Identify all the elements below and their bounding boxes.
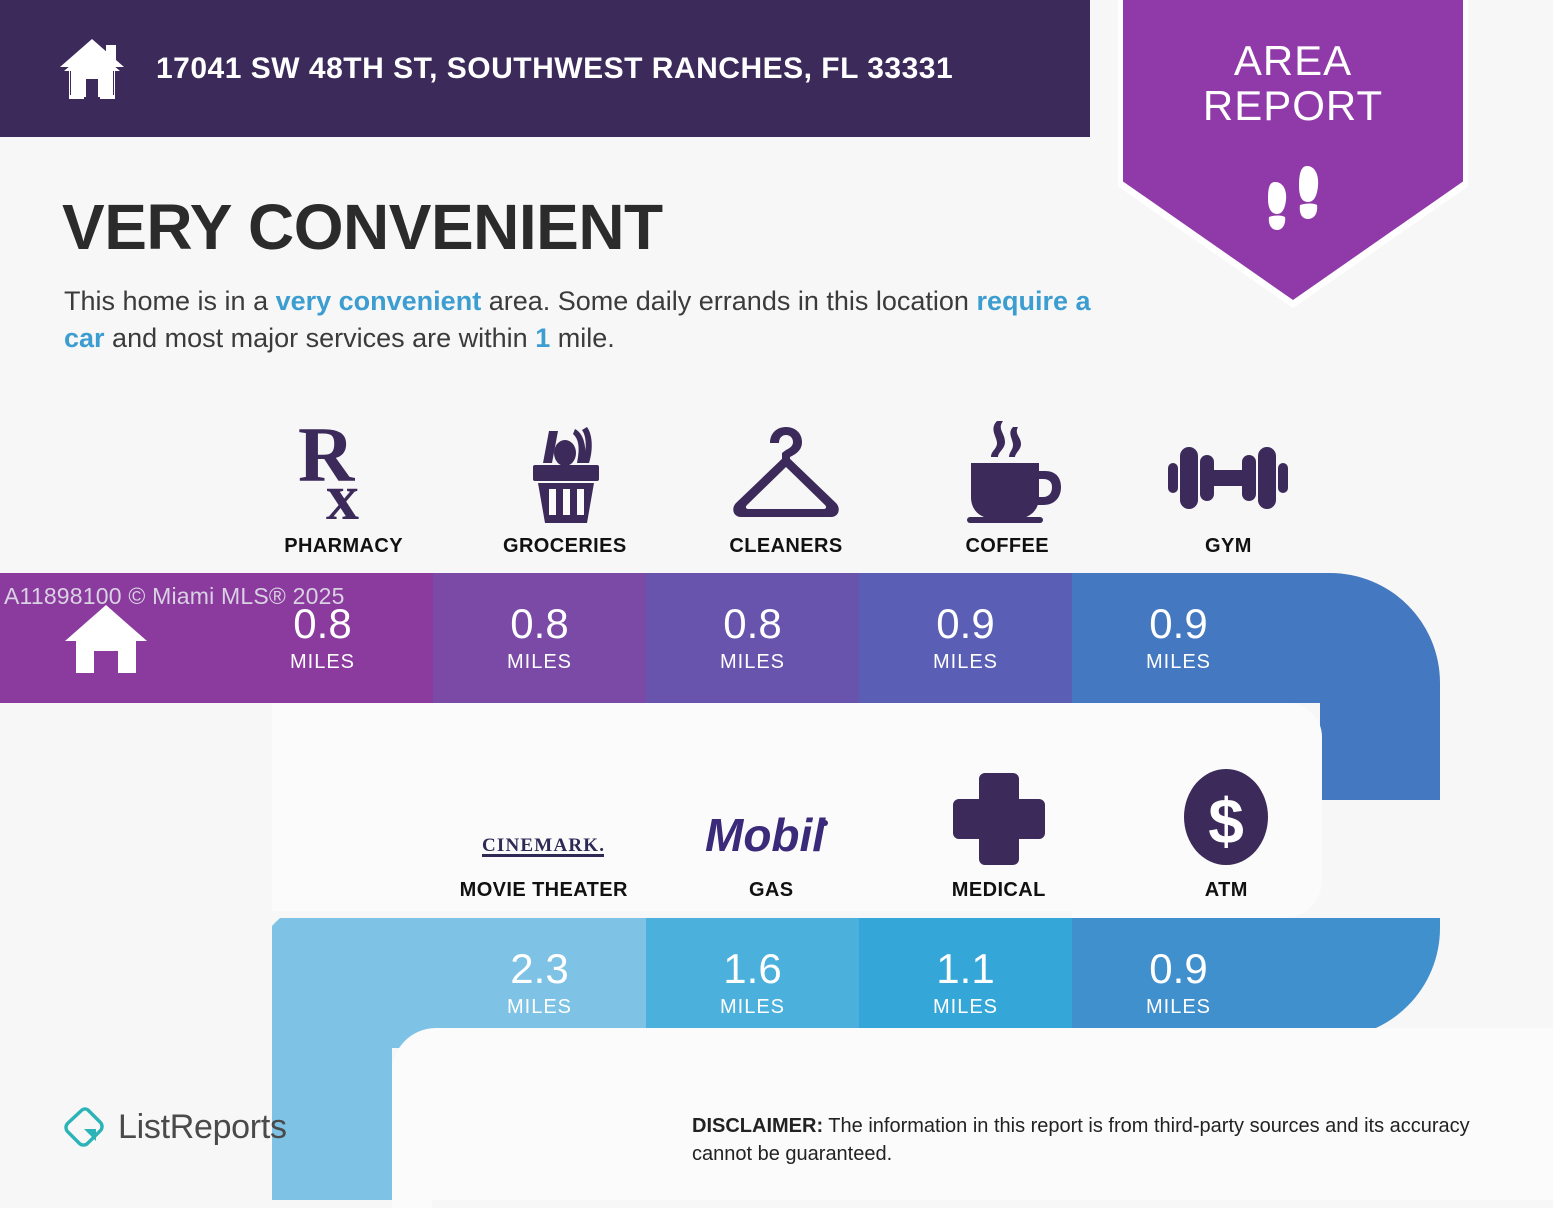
distance-value-movie-theater: 2.3 MILES <box>433 918 646 1048</box>
distance-value-medical: 1.1 MILES <box>859 918 1072 1048</box>
category-medical: MEDICAL <box>885 752 1113 902</box>
distance-unit: MILES <box>290 651 355 674</box>
mls-watermark: A11898100 © Miami MLS® 2025 <box>4 583 345 610</box>
dollar-icon: $ <box>1176 767 1276 867</box>
distance-number: 0.9 <box>1149 603 1207 645</box>
category-label: ATM <box>1205 879 1248 902</box>
listreports-house-icon <box>62 1105 106 1149</box>
distance-unit: MILES <box>1146 651 1211 674</box>
distance-unit: MILES <box>933 996 998 1019</box>
distance-number: 1.1 <box>936 948 994 990</box>
listreports-wordmark: ListReports <box>118 1108 287 1147</box>
category-movie-theater: CINEMARK. MOVIE THEATER <box>430 752 658 902</box>
disclaimer: DISCLAIMER: The information in this repo… <box>692 1113 1502 1168</box>
category-gas: Mobil GAS <box>658 752 886 902</box>
distance-unit: MILES <box>720 651 785 674</box>
distance-number: 0.9 <box>1149 948 1207 990</box>
distance-number: 0.9 <box>936 603 994 645</box>
distance-unit: MILES <box>933 651 998 674</box>
distance-unit: MILES <box>507 996 572 1019</box>
distance-number: 2.3 <box>510 948 568 990</box>
distance-value-gym: 0.9 MILES <box>1072 573 1285 703</box>
svg-text:CINEMARK.: CINEMARK. <box>482 835 605 856</box>
cinemark-logo: CINEMARK. <box>479 767 609 867</box>
distance-value-groceries: 0.8 MILES <box>433 573 646 703</box>
mobil-logo: Mobil <box>701 767 841 867</box>
svg-text:Mobil: Mobil <box>705 809 826 861</box>
distance-number: 0.8 <box>510 603 568 645</box>
category-atm: $ ATM <box>1113 752 1341 902</box>
house-icon <box>63 599 149 677</box>
distance-number: 0.8 <box>723 603 781 645</box>
row2-category-icons: CINEMARK. MOVIE THEATER Mobil GAS MEDICA… <box>430 752 1340 902</box>
category-label: GAS <box>749 879 794 902</box>
category-label: MOVIE THEATER <box>460 879 628 902</box>
distance-number: 1.6 <box>723 948 781 990</box>
distance-unit: MILES <box>507 651 572 674</box>
distance-value-atm: 0.9 MILES <box>1072 918 1285 1048</box>
distance-value-gas: 1.6 MILES <box>646 918 859 1048</box>
svg-text:$: $ <box>1208 785 1244 857</box>
listreports-logo: ListReports <box>62 1105 287 1149</box>
distance-unit: MILES <box>1146 996 1211 1019</box>
distance-value-cleaners: 0.8 MILES <box>646 573 859 703</box>
cross-icon <box>951 767 1047 867</box>
distance-value-coffee: 0.9 MILES <box>859 573 1072 703</box>
distance-unit: MILES <box>720 996 785 1019</box>
category-label: MEDICAL <box>952 879 1046 902</box>
disclaimer-label: DISCLAIMER: <box>692 1115 823 1137</box>
